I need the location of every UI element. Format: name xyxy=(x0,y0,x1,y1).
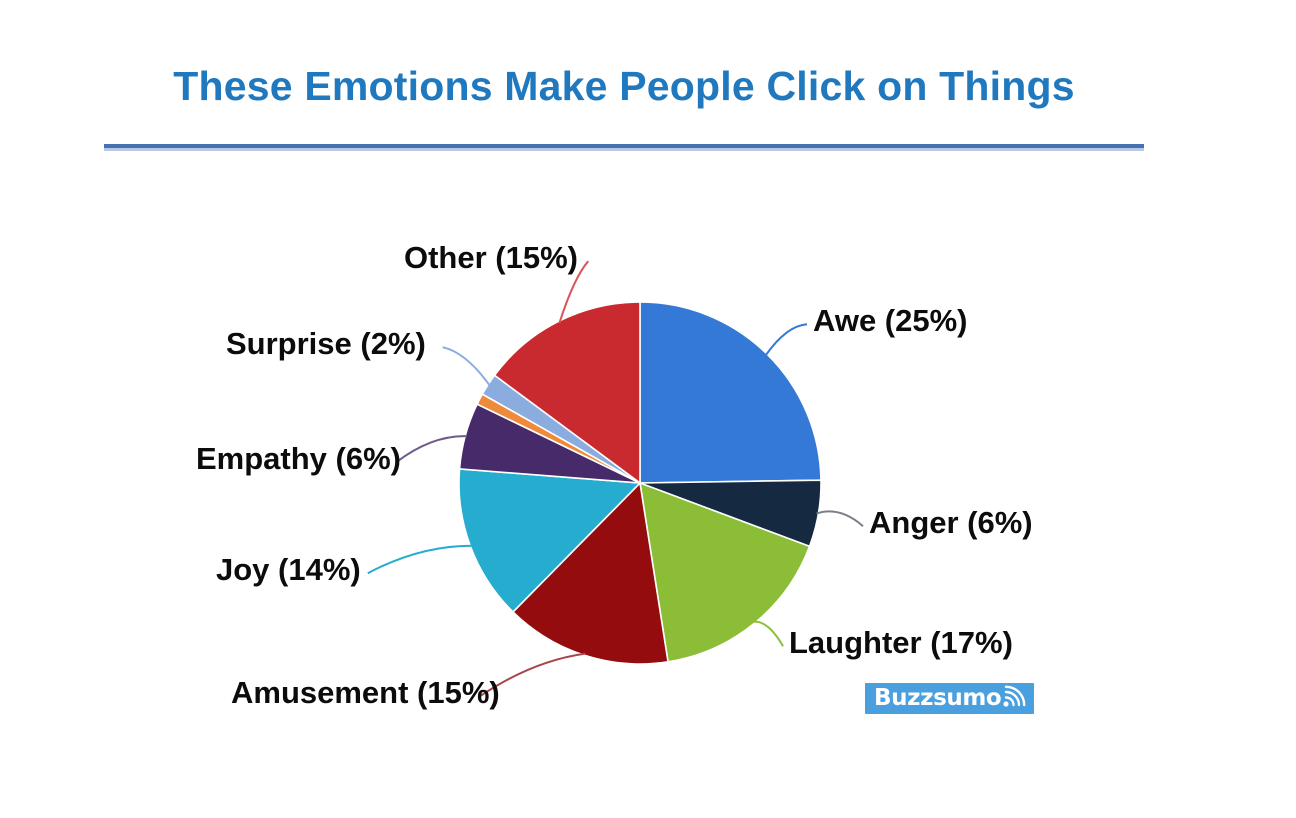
pie-data-label-joy: Joy (14%) xyxy=(216,554,361,585)
pie-data-label-awe: Awe (25%) xyxy=(813,305,968,336)
pie-data-label-surprise: Surprise (2%) xyxy=(226,328,426,359)
pie-slice-group xyxy=(459,302,821,664)
leader-line-surprise xyxy=(443,347,490,385)
leader-line-joy xyxy=(368,546,472,574)
pie-chart: Awe (25%)Anger (6%)Laughter (17%)Amuseme… xyxy=(0,0,1296,818)
wifi-signal-icon xyxy=(997,685,1027,712)
buzzsumo-logo: Buzzsumo xyxy=(865,683,1034,714)
pie-data-label-empathy: Empathy (6%) xyxy=(196,443,401,474)
pie-data-label-laughter: Laughter (17%) xyxy=(789,627,1013,658)
pie-data-label-other: Other (15%) xyxy=(404,242,578,273)
leader-line-laughter xyxy=(753,622,783,647)
leader-line-awe xyxy=(766,324,807,355)
pie-data-label-amusement: Amusement (15%) xyxy=(231,677,500,708)
slide-canvas: These Emotions Make People Click on Thin… xyxy=(0,0,1296,818)
buzzsumo-logo-text: Buzzsumo xyxy=(874,686,1001,711)
pie-chart-svg xyxy=(0,0,1296,818)
leader-line-anger xyxy=(817,511,863,526)
leader-line-empathy xyxy=(396,436,467,462)
pie-data-label-anger: Anger (6%) xyxy=(869,507,1033,538)
